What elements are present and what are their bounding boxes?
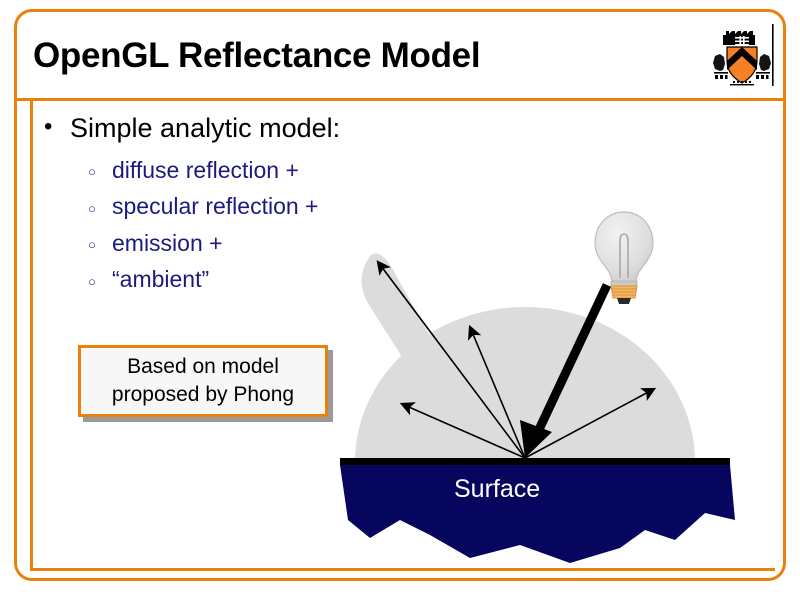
reflectance-diagram bbox=[0, 0, 800, 600]
surface-shape bbox=[340, 458, 735, 563]
slide-canvas: OpenGL Reflectance Model bbox=[0, 0, 800, 600]
surface-label: Surface bbox=[454, 475, 540, 504]
